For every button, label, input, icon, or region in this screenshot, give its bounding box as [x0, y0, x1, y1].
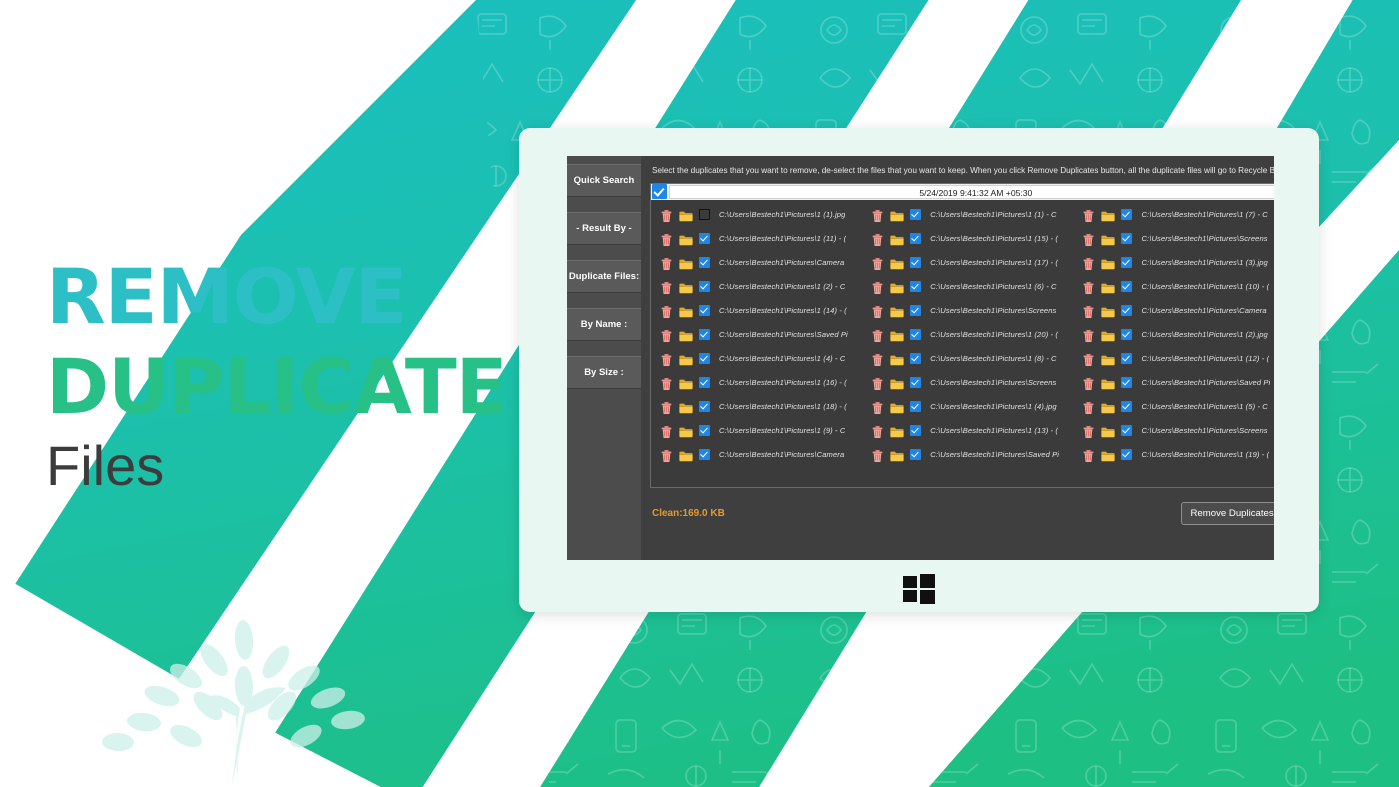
file-checkbox[interactable]	[1121, 281, 1132, 292]
file-path-label: C:\Users\Bestech1\Pictures\Camera	[1141, 306, 1266, 315]
sidebar-item-label: - Result By -	[576, 223, 631, 234]
trash-icon[interactable]	[1083, 401, 1094, 413]
trash-icon[interactable]	[661, 449, 672, 461]
folder-icon[interactable]	[679, 305, 693, 316]
trash-icon[interactable]	[872, 425, 883, 437]
file-checkbox[interactable]	[699, 209, 710, 220]
sidebar-item-by-size[interactable]: By Size :	[567, 356, 641, 389]
file-row[interactable]: C:\Users\Bestech1\Pictures\1 (9) - C	[651, 419, 862, 443]
file-row[interactable]: C:\Users\Bestech1\Pictures\1 (17) - (	[862, 251, 1073, 275]
file-checkbox[interactable]	[699, 377, 710, 388]
folder-icon[interactable]	[890, 449, 904, 460]
file-checkbox[interactable]	[699, 305, 710, 316]
sidebar-item-result-by[interactable]: - Result By -	[567, 212, 641, 245]
file-path-label: C:\Users\Bestech1\Pictures\1 (6) - C	[930, 282, 1056, 291]
folder-icon[interactable]	[1101, 329, 1115, 340]
file-row[interactable]: C:\Users\Bestech1\Pictures\Screens	[1073, 227, 1274, 251]
file-checkbox[interactable]	[699, 425, 710, 436]
file-path-label: C:\Users\Bestech1\Pictures\1 (15) - (	[930, 234, 1058, 243]
file-checkbox[interactable]	[910, 377, 921, 388]
trash-icon[interactable]	[661, 209, 672, 221]
folder-icon[interactable]	[1101, 305, 1115, 316]
file-row[interactable]: C:\Users\Bestech1\Pictures\Camera	[651, 251, 862, 275]
file-row[interactable]: C:\Users\Bestech1\Pictures\Saved Pi	[1073, 371, 1274, 395]
trash-icon[interactable]	[872, 281, 883, 293]
folder-icon[interactable]	[1101, 425, 1115, 436]
trash-icon[interactable]	[1083, 425, 1094, 437]
file-checkbox[interactable]	[1121, 425, 1132, 436]
file-column-1: C:\Users\Bestech1\Pictures\1 (1).jpgC:\U…	[651, 203, 862, 487]
file-row[interactable]: C:\Users\Bestech1\Pictures\Screens	[1073, 419, 1274, 443]
file-row[interactable]: C:\Users\Bestech1\Pictures\Saved Pi	[862, 443, 1073, 467]
sidebar-filler	[567, 404, 641, 560]
file-path-label: C:\Users\Bestech1\Pictures\Camera	[719, 450, 844, 459]
trash-icon[interactable]	[872, 449, 883, 461]
trash-icon[interactable]	[1083, 353, 1094, 365]
file-checkbox[interactable]	[699, 281, 710, 292]
trash-icon[interactable]	[1083, 209, 1094, 221]
file-columns: C:\Users\Bestech1\Pictures\1 (1).jpgC:\U…	[651, 200, 1274, 487]
file-path-label: C:\Users\Bestech1\Pictures\Saved Pi	[719, 330, 848, 339]
file-row[interactable]: C:\Users\Bestech1\Pictures\1 (16) - (	[651, 371, 862, 395]
main-panel: Select the duplicates that you want to r…	[641, 156, 1274, 560]
file-path-label: C:\Users\Bestech1\Pictures\Screens	[1141, 234, 1267, 243]
file-column-2: C:\Users\Bestech1\Pictures\1 (1) - CC:\U…	[862, 203, 1073, 487]
sidebar-divider	[567, 293, 641, 308]
file-path-label: C:\Users\Bestech1\Pictures\Screens	[1141, 426, 1267, 435]
tablet-device-mockup: Quick Search - Result By - Duplicate Fil…	[519, 128, 1319, 612]
trash-icon[interactable]	[1083, 305, 1094, 317]
sidebar-item-label: Duplicate Files:	[569, 271, 639, 282]
file-path-label: C:\Users\Bestech1\Pictures\1 (4) - C	[719, 354, 845, 363]
folder-icon[interactable]	[679, 281, 693, 292]
file-row[interactable]: C:\Users\Bestech1\Pictures\1 (2) - C	[651, 275, 862, 299]
folder-icon[interactable]	[679, 233, 693, 244]
trash-icon[interactable]	[661, 377, 672, 389]
folder-icon[interactable]	[1101, 377, 1115, 388]
file-path-label: C:\Users\Bestech1\Pictures\1 (11) - (	[719, 234, 846, 243]
file-path-label: C:\Users\Bestech1\Pictures\1 (8) - C	[930, 354, 1056, 363]
file-checkbox[interactable]	[1121, 353, 1132, 364]
file-checkbox[interactable]	[699, 401, 710, 412]
instruction-text: Select the duplicates that you want to r…	[652, 166, 1274, 176]
trash-icon[interactable]	[661, 329, 672, 341]
file-checkbox[interactable]	[910, 353, 921, 364]
file-path-label: C:\Users\Bestech1\Pictures\1 (5) - C	[1141, 402, 1267, 411]
footer-bar: Clean:169.0 KB Remove Duplicates	[650, 488, 1274, 538]
trash-icon[interactable]	[661, 233, 672, 245]
file-path-label: C:\Users\Bestech1\Pictures\Screens	[930, 378, 1056, 387]
file-checkbox[interactable]	[910, 233, 921, 244]
file-path-label: C:\Users\Bestech1\Pictures\1 (3).jpg	[1141, 258, 1267, 267]
file-row[interactable]: C:\Users\Bestech1\Pictures\Screens	[862, 371, 1073, 395]
sidebar-item-by-name[interactable]: By Name :	[567, 308, 641, 341]
file-checkbox[interactable]	[1121, 233, 1132, 244]
trash-icon[interactable]	[661, 305, 672, 317]
sidebar-item-label: By Size :	[584, 367, 624, 378]
file-checkbox[interactable]	[699, 353, 710, 364]
file-checkbox[interactable]	[1121, 257, 1132, 268]
file-path-label: C:\Users\Bestech1\Pictures\1 (10) - (	[1141, 282, 1269, 291]
file-row[interactable]: C:\Users\Bestech1\Pictures\1 (11) - (	[651, 227, 862, 251]
file-path-label: C:\Users\Bestech1\Pictures\1 (1).jpg	[719, 210, 845, 219]
trash-icon[interactable]	[1083, 329, 1094, 341]
windows-logo-icon[interactable]	[903, 574, 935, 604]
folder-icon[interactable]	[679, 377, 693, 388]
sidebar-divider	[567, 197, 641, 212]
file-checkbox[interactable]	[699, 329, 710, 340]
remove-duplicates-button[interactable]: Remove Duplicates	[1181, 502, 1275, 525]
folder-icon[interactable]	[890, 209, 904, 220]
file-path-label: C:\Users\Bestech1\Pictures\Saved Pi	[1141, 378, 1270, 387]
file-row[interactable]: C:\Users\Bestech1\Pictures\1 (7) - C	[1073, 203, 1274, 227]
folder-icon[interactable]	[1101, 257, 1115, 268]
trash-icon[interactable]	[872, 329, 883, 341]
title-line-files: Files	[46, 438, 507, 494]
file-row[interactable]: C:\Users\Bestech1\Pictures\Camera	[651, 443, 862, 467]
folder-icon[interactable]	[1101, 209, 1115, 220]
footer-spacer	[650, 538, 1274, 560]
trash-icon[interactable]	[872, 257, 883, 269]
folder-icon[interactable]	[679, 209, 693, 220]
trash-icon[interactable]	[1083, 377, 1094, 389]
file-row[interactable]: C:\Users\Bestech1\Pictures\Screens	[862, 299, 1073, 323]
file-checkbox[interactable]	[1121, 449, 1132, 460]
file-path-label: C:\Users\Bestech1\Pictures\Saved Pi	[930, 450, 1059, 459]
sidebar-item-quick-search[interactable]: Quick Search	[567, 164, 641, 197]
folder-icon[interactable]	[890, 329, 904, 340]
file-checkbox[interactable]	[910, 209, 921, 220]
file-path-label: C:\Users\Bestech1\Pictures\1 (2) - C	[719, 282, 845, 291]
file-row[interactable]: C:\Users\Bestech1\Pictures\1 (2).jpg	[1073, 323, 1274, 347]
file-checkbox[interactable]	[910, 401, 921, 412]
file-row[interactable]: C:\Users\Bestech1\Pictures\1 (20) - (	[862, 323, 1073, 347]
file-checkbox[interactable]	[1121, 329, 1132, 340]
file-checkbox[interactable]	[910, 449, 921, 460]
file-checkbox[interactable]	[1121, 305, 1132, 316]
file-path-label: C:\Users\Bestech1\Pictures\1 (18) - (	[719, 402, 847, 411]
file-row[interactable]: C:\Users\Bestech1\Pictures\1 (6) - C	[862, 275, 1073, 299]
sidebar-divider	[567, 341, 641, 356]
folder-icon[interactable]	[1101, 233, 1115, 244]
trash-icon[interactable]	[661, 281, 672, 293]
file-row[interactable]: C:\Users\Bestech1\Pictures\Saved Pi	[651, 323, 862, 347]
folder-icon[interactable]	[679, 401, 693, 412]
select-all-checkbox[interactable]	[652, 184, 667, 199]
folder-icon[interactable]	[679, 425, 693, 436]
group-timestamp: 5/24/2019 9:41:32 AM +05:30	[669, 185, 1274, 199]
app-window: Quick Search - Result By - Duplicate Fil…	[567, 156, 1274, 560]
trash-icon[interactable]	[872, 401, 883, 413]
file-checkbox[interactable]	[1121, 209, 1132, 220]
file-column-3: C:\Users\Bestech1\Pictures\1 (7) - CC:\U…	[1073, 203, 1274, 487]
file-path-label: C:\Users\Bestech1\Pictures\1 (20) - (	[930, 330, 1058, 339]
group-header-row: 5/24/2019 9:41:32 AM +05:30	[651, 184, 1274, 200]
file-row[interactable]: C:\Users\Bestech1\Pictures\Camera	[1073, 299, 1274, 323]
folder-icon[interactable]	[890, 281, 904, 292]
file-row[interactable]: C:\Users\Bestech1\Pictures\1 (1).jpg	[651, 203, 862, 227]
duplicate-files-list: 5/24/2019 9:41:32 AM +05:30 C:\Users\Bes…	[650, 183, 1274, 488]
file-checkbox[interactable]	[910, 281, 921, 292]
trash-icon[interactable]	[1083, 281, 1094, 293]
trash-icon[interactable]	[1083, 233, 1094, 245]
file-row[interactable]: C:\Users\Bestech1\Pictures\1 (10) - (	[1073, 275, 1274, 299]
title-line-duplicate: DUPLICATE	[46, 352, 507, 422]
file-checkbox[interactable]	[910, 257, 921, 268]
trash-icon[interactable]	[872, 353, 883, 365]
folder-icon[interactable]	[1101, 449, 1115, 460]
file-path-label: C:\Users\Bestech1\Pictures\1 (17) - (	[930, 258, 1058, 267]
title-line-remove: REMOVE	[46, 262, 516, 332]
trash-icon[interactable]	[872, 209, 883, 221]
file-checkbox[interactable]	[910, 425, 921, 436]
folder-icon[interactable]	[890, 425, 904, 436]
file-checkbox[interactable]	[1121, 401, 1132, 412]
file-path-label: C:\Users\Bestech1\Pictures\1 (19) - (	[1141, 450, 1269, 459]
file-path-label: C:\Users\Bestech1\Pictures\1 (12) - (	[1141, 354, 1269, 363]
file-row[interactable]: C:\Users\Bestech1\Pictures\1 (15) - (	[862, 227, 1073, 251]
sidebar-divider	[567, 389, 641, 404]
file-path-label: C:\Users\Bestech1\Pictures\Camera	[719, 258, 844, 267]
file-checkbox[interactable]	[910, 329, 921, 340]
file-path-label: C:\Users\Bestech1\Pictures\1 (2).jpg	[1141, 330, 1267, 339]
trash-icon[interactable]	[661, 353, 672, 365]
trash-icon[interactable]	[661, 425, 672, 437]
file-path-label: C:\Users\Bestech1\Pictures\Screens	[930, 306, 1056, 315]
file-path-label: C:\Users\Bestech1\Pictures\1 (4).jpg	[930, 402, 1056, 411]
file-row[interactable]: C:\Users\Bestech1\Pictures\1 (4) - C	[651, 347, 862, 371]
folder-icon[interactable]	[679, 449, 693, 460]
folder-icon[interactable]	[679, 329, 693, 340]
file-row[interactable]: C:\Users\Bestech1\Pictures\1 (12) - (	[1073, 347, 1274, 371]
file-row[interactable]: C:\Users\Bestech1\Pictures\1 (3).jpg	[1073, 251, 1274, 275]
folder-icon[interactable]	[890, 353, 904, 364]
file-row[interactable]: C:\Users\Bestech1\Pictures\1 (1) - C	[862, 203, 1073, 227]
sidebar-item-label: By Name :	[581, 319, 627, 330]
file-path-label: C:\Users\Bestech1\Pictures\1 (14) - (	[719, 306, 847, 315]
file-path-label: C:\Users\Bestech1\Pictures\1 (9) - C	[719, 426, 845, 435]
trash-icon[interactable]	[1083, 257, 1094, 269]
file-row[interactable]: C:\Users\Bestech1\Pictures\1 (18) - (	[651, 395, 862, 419]
sidebar-divider	[567, 245, 641, 260]
folder-icon[interactable]	[890, 257, 904, 268]
file-row[interactable]: C:\Users\Bestech1\Pictures\1 (19) - (	[1073, 443, 1274, 467]
sidebar: Quick Search - Result By - Duplicate Fil…	[567, 156, 641, 560]
trash-icon[interactable]	[661, 257, 672, 269]
file-row[interactable]: C:\Users\Bestech1\Pictures\1 (14) - (	[651, 299, 862, 323]
file-checkbox[interactable]	[1121, 377, 1132, 388]
file-checkbox[interactable]	[699, 233, 710, 244]
folder-icon[interactable]	[890, 377, 904, 388]
trash-icon[interactable]	[872, 233, 883, 245]
trash-icon[interactable]	[661, 401, 672, 413]
file-checkbox[interactable]	[910, 305, 921, 316]
trash-icon[interactable]	[1083, 449, 1094, 461]
folder-icon[interactable]	[890, 233, 904, 244]
folder-icon[interactable]	[1101, 281, 1115, 292]
trash-icon[interactable]	[872, 305, 883, 317]
folder-icon[interactable]	[679, 257, 693, 268]
file-checkbox[interactable]	[699, 257, 710, 268]
file-row[interactable]: C:\Users\Bestech1\Pictures\1 (13) - (	[862, 419, 1073, 443]
file-checkbox[interactable]	[699, 449, 710, 460]
trash-icon[interactable]	[872, 377, 883, 389]
file-path-label: C:\Users\Bestech1\Pictures\1 (16) - (	[719, 378, 847, 387]
file-path-label: C:\Users\Bestech1\Pictures\1 (13) - (	[930, 426, 1058, 435]
file-row[interactable]: C:\Users\Bestech1\Pictures\1 (8) - C	[862, 347, 1073, 371]
file-path-label: C:\Users\Bestech1\Pictures\1 (7) - C	[1141, 210, 1267, 219]
sidebar-item-label: Quick Search	[574, 175, 635, 186]
sidebar-item-duplicate-files[interactable]: Duplicate Files:	[567, 260, 641, 293]
folder-icon[interactable]	[890, 305, 904, 316]
folder-icon[interactable]	[679, 353, 693, 364]
folder-icon[interactable]	[1101, 353, 1115, 364]
file-row[interactable]: C:\Users\Bestech1\Pictures\1 (4).jpg	[862, 395, 1073, 419]
file-path-label: C:\Users\Bestech1\Pictures\1 (1) - C	[930, 210, 1056, 219]
folder-icon[interactable]	[1101, 401, 1115, 412]
folder-icon[interactable]	[890, 401, 904, 412]
file-row[interactable]: C:\Users\Bestech1\Pictures\1 (5) - C	[1073, 395, 1274, 419]
page-title: REMOVE DUPLICATE Files	[46, 262, 507, 494]
clean-size-label: Clean:169.0 KB	[652, 508, 725, 519]
